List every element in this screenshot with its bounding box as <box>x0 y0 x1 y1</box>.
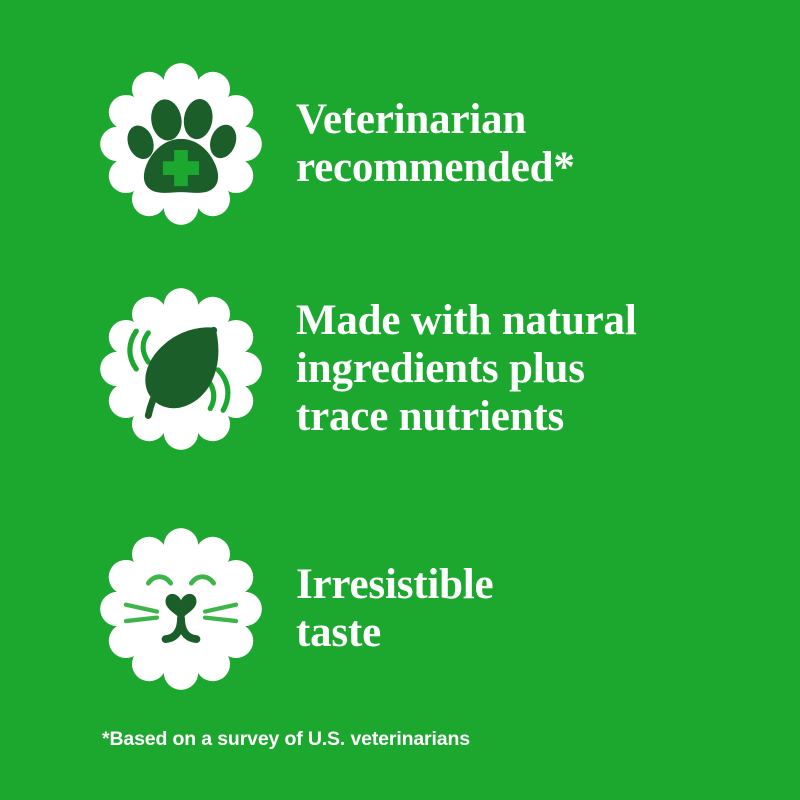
benefit-label: Veterinarian recommended* <box>296 96 575 192</box>
badge-taste <box>88 523 274 695</box>
badge-veterinarian <box>88 58 274 230</box>
benefit-item-veterinarian-recommended: Veterinarian recommended* <box>0 58 800 230</box>
leaf-with-motion-arcs-icon <box>95 283 267 455</box>
badge-natural <box>88 283 274 455</box>
benefit-item-irresistible-taste: Irresistible taste <box>0 523 800 695</box>
benefits-panel: Veterinarian recommended* <box>0 0 800 800</box>
benefit-label: Made with natural ingredients plus trace… <box>296 297 637 441</box>
footnote-text: *Based on a survey of U.S. veterinarians <box>102 728 470 751</box>
paw-with-medical-cross-icon <box>95 58 267 230</box>
benefit-item-natural-ingredients: Made with natural ingredients plus trace… <box>0 283 800 455</box>
happy-cat-face-icon <box>95 523 267 695</box>
benefit-label: Irresistible taste <box>296 561 493 657</box>
